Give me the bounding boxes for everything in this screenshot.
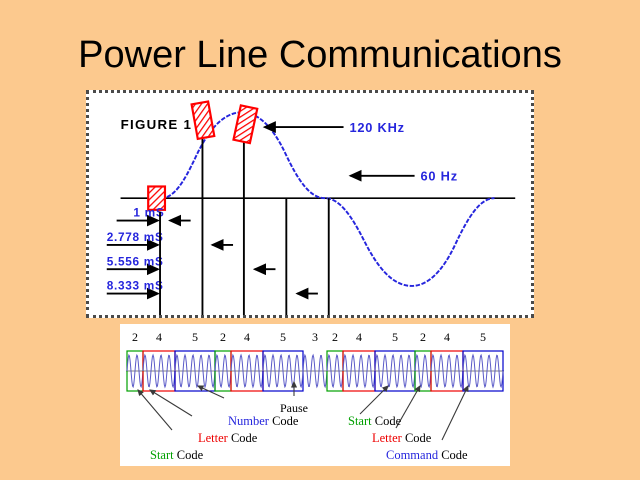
group-digit: 3 xyxy=(312,330,318,344)
pointer-start-left xyxy=(138,390,172,430)
figure1-panel: FIGURE 1 120 KHz xyxy=(86,90,534,318)
label-120khz: 120 KHz xyxy=(349,120,404,135)
burst-marker-rising-peak xyxy=(192,101,215,138)
group-digit: 2 xyxy=(332,330,338,344)
group-digit: 2 xyxy=(220,330,226,344)
legend-number-code: Number Code xyxy=(228,414,299,428)
pointer-start-right xyxy=(360,386,388,414)
burst-marker-falling-peak xyxy=(233,105,257,143)
group-digit: 4 xyxy=(244,330,250,344)
sine-burst xyxy=(303,355,327,387)
figure1-graphic: FIGURE 1 120 KHz xyxy=(89,93,531,315)
digit-row: 2452453245245 xyxy=(132,330,486,344)
legend-command-code: Command Code xyxy=(386,448,468,462)
waveform-groups xyxy=(127,351,503,391)
group-digit: 2 xyxy=(420,330,426,344)
legend-letter-code-left: Letter Code xyxy=(198,431,258,445)
group-digit: 5 xyxy=(280,330,286,344)
figure1-caption: FIGURE 1 xyxy=(121,117,193,132)
pointer-command-right xyxy=(442,386,468,440)
timing-label-8333ms: 8.333 mS xyxy=(107,280,164,293)
group-digit: 2 xyxy=(132,330,138,344)
pointer-number-left xyxy=(198,386,224,398)
legend-letter-code-right: Letter Code xyxy=(372,431,432,445)
timing-label-5556ms: 5.556 mS xyxy=(107,255,164,268)
figure2-panel: 2452453245245 Pause Number Code Letter C… xyxy=(120,324,510,466)
timing-label-2778ms: 2.778 mS xyxy=(107,231,164,244)
label-60hz: 60 Hz xyxy=(421,169,458,184)
group-digit: 5 xyxy=(480,330,486,344)
slide-canvas: Power Line Communications FIGURE 1 xyxy=(0,0,640,480)
pause-label: Pause xyxy=(280,401,308,415)
legend-start-code-left: Start Code xyxy=(150,448,204,462)
group-digit: 4 xyxy=(356,330,362,344)
legend-start-code-right: Start Code xyxy=(348,414,402,428)
group-digit: 4 xyxy=(444,330,450,344)
figure2-graphic: 2452453245245 Pause Number Code Letter C… xyxy=(120,324,510,466)
group-digit: 4 xyxy=(156,330,162,344)
group-digit: 5 xyxy=(392,330,398,344)
group-digit: 5 xyxy=(192,330,198,344)
sine-wave-60hz xyxy=(161,112,494,286)
page-title: Power Line Communications xyxy=(0,32,640,78)
